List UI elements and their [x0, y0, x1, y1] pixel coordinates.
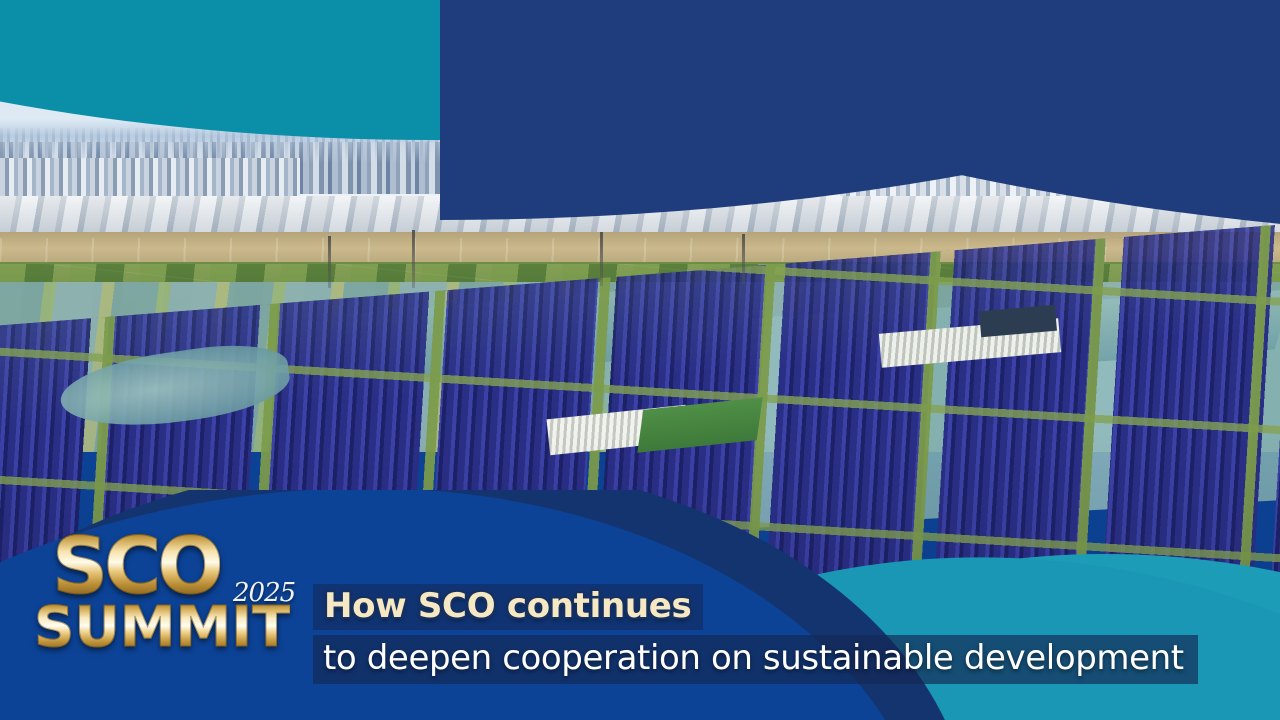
power-pylon	[600, 232, 603, 286]
logo-summit-text: SUMMIT	[34, 600, 290, 656]
broadcast-graphic-stage: SCO 2025 SUMMIT How SCO continues to dee…	[0, 0, 1280, 720]
headline-line-1: How SCO continues	[313, 584, 703, 630]
sco-summit-logo: SCO 2025 SUMMIT	[28, 528, 303, 658]
headline-block: How SCO continues to deepen cooperation …	[313, 584, 1198, 684]
headline-line-2: to deepen cooperation on sustainable dev…	[313, 635, 1198, 684]
power-pylon	[742, 234, 745, 284]
power-pylon	[412, 230, 415, 288]
power-pylon	[328, 236, 331, 288]
